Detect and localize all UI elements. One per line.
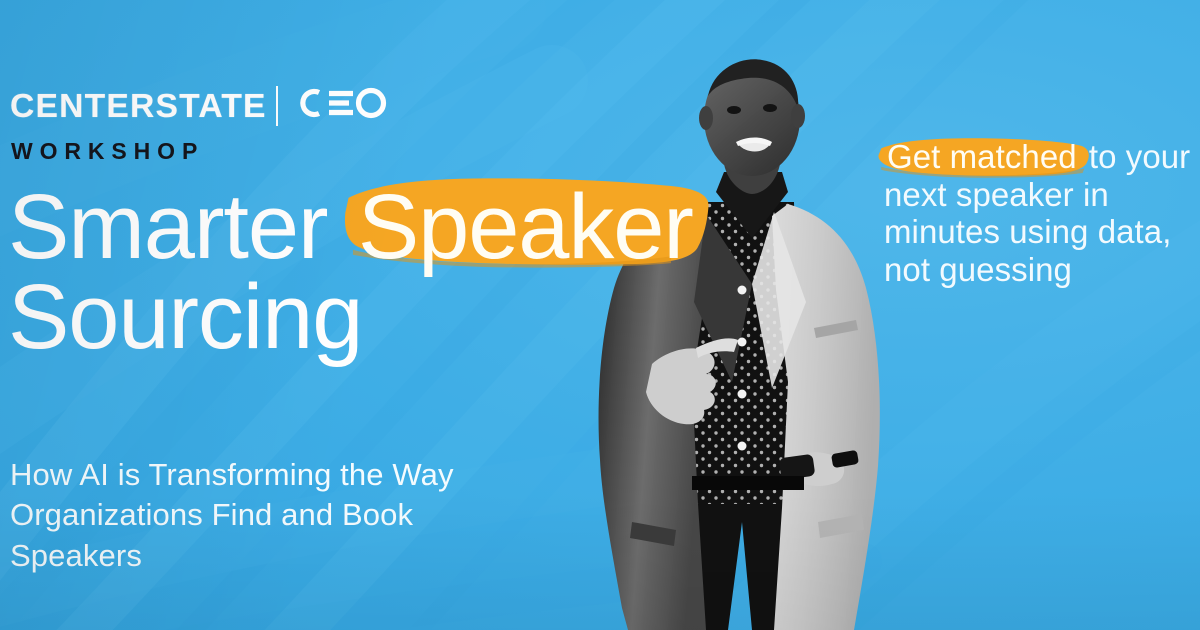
caption-highlight: Get matched [884, 138, 1080, 176]
caption-line-4: not guessing [884, 251, 1200, 289]
promo-banner: CENTERSTATE WORKSHOP Smarter [0, 0, 1200, 630]
subheadline-line-2: Organizations Find and Book [10, 495, 550, 535]
caption-line-1-rest: to your [1080, 138, 1191, 175]
logo-divider [276, 86, 278, 126]
caption-highlight-text: Get matched [887, 138, 1077, 175]
ceo-mark-icon [291, 84, 387, 127]
subheadline-line-1: How AI is Transforming the Way [10, 455, 550, 495]
headline: Smarter Speaker Sourcing [8, 182, 668, 362]
caption-line-2: next speaker in [884, 176, 1200, 214]
brand-logo: CENTERSTATE [10, 84, 387, 127]
caption-line-1: Get matched to your [884, 138, 1200, 176]
brand-name: CENTERSTATE [10, 89, 267, 122]
headline-highlight-text: Speaker [358, 176, 693, 278]
headline-prefix: Smarter [8, 176, 352, 278]
value-proposition: Get matched to your next speaker in minu… [884, 138, 1200, 288]
subheadline: How AI is Transforming the Way Organizat… [10, 455, 550, 576]
headline-line-1: Smarter Speaker [8, 182, 668, 272]
eyebrow-label: WORKSHOP [11, 140, 204, 163]
caption-line-3: minutes using data, [884, 213, 1200, 251]
subheadline-line-3: Speakers [10, 536, 550, 576]
headline-highlight: Speaker [348, 182, 699, 272]
headline-line-2: Sourcing [8, 272, 668, 362]
